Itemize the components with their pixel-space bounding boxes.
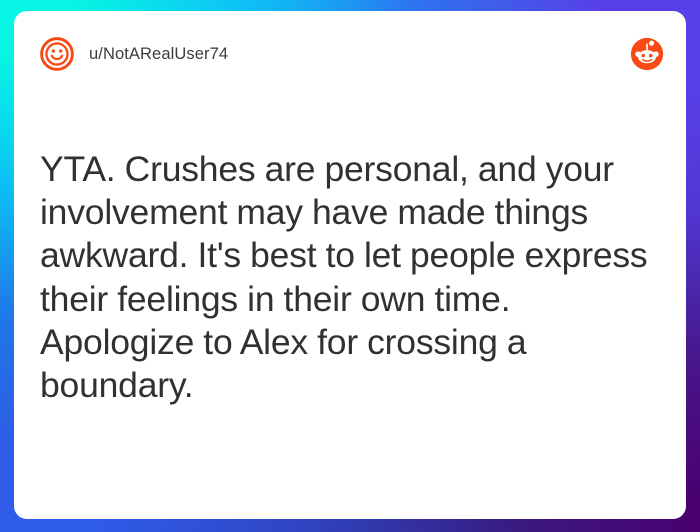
smiley-face-avatar-icon[interactable] [38,35,76,73]
username-label: u/NotARealUser74 [89,45,228,64]
reddit-post-card: u/NotARealUser74 YTA. Crushes are p [14,11,686,519]
post-header: u/NotARealUser74 [14,11,686,97]
reddit-snoo-icon[interactable] [630,37,664,71]
post-body-text: YTA. Crushes are personal, and your invo… [40,148,668,407]
screenshot-canvas: u/NotARealUser74 YTA. Crushes are p [0,0,700,532]
